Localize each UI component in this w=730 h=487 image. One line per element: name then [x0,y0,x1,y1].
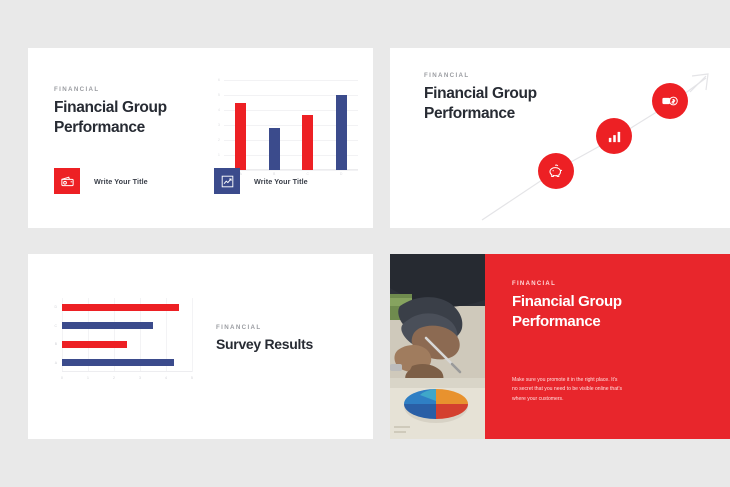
eyebrow: FINANCIAL [54,86,204,93]
page-title: Financial Group Performance [512,292,642,331]
title-line-2: Performance [512,312,642,332]
y-tick-label: 5 [218,93,220,97]
x-tick-label: 5 [191,376,193,380]
slide1-text-block: FINANCIAL Financial Group Performance [54,86,204,137]
slide-photo-red-panel[interactable]: FINANCIAL Financial Group Performance Ma… [390,254,730,439]
bar [269,128,280,170]
wallet-icon [54,168,80,194]
x-tick-label: 4 [165,376,167,380]
line-chart-icon [214,168,240,194]
bar [62,304,179,311]
page-title: Survey Results [216,336,356,352]
y-tick-label: 1 [218,153,220,157]
eyebrow: FINANCIAL [512,281,642,287]
bar-row [62,317,192,336]
money-coins-icon[interactable] [652,83,688,119]
page-title: Financial Group Performance [424,84,584,123]
gridline [192,298,193,372]
chart-baseline [62,371,192,372]
item-line-chart[interactable]: Write Your Title [214,168,308,194]
bar-row [62,335,192,354]
x-tick-label: 2 [113,376,115,380]
x-tick-label: 3 [139,376,141,380]
bar-chart-icon[interactable] [596,118,632,154]
slide1-items: Write Your Title Write Your Title [54,168,357,194]
slide-deck: FINANCIAL Financial Group Performance 65… [0,0,730,487]
chart-bars [224,80,358,170]
y-tick-label: 3 [218,123,220,127]
chart-x-axis: 012345 [62,376,192,384]
chart-y-axis: 6543210 [210,80,223,170]
title-line-1: Financial Group [424,84,584,104]
x-tick-label: 0 [61,376,63,380]
x-tick-label: 1 [87,376,89,380]
bar-row [62,298,192,317]
slide3-text-block: FINANCIAL Survey Results [216,324,356,352]
body-text: Make sure you promote it in the right pl… [512,376,624,404]
page-title: Financial Group Performance [54,98,204,137]
slide-bar-chart[interactable]: FINANCIAL Financial Group Performance 65… [28,48,373,228]
title-line-1: Financial Group [54,98,204,118]
eyebrow: FINANCIAL [424,72,584,79]
red-content-panel: FINANCIAL Financial Group Performance Ma… [485,254,730,439]
piggy-bank-icon[interactable] [538,153,574,189]
y-tick-label: 4 [218,108,220,112]
title-line-2: Performance [424,104,584,124]
bar [235,103,246,171]
bar [62,322,153,329]
item-wallet[interactable]: Write Your Title [54,168,214,194]
bar [62,341,127,348]
horizontal-bar-chart: DCBA 012345 [46,296,198,388]
chart-y-axis: DCBA [46,298,61,372]
y-tick-label: A [55,361,57,365]
slide-survey-results[interactable]: DCBA 012345 FINANCIAL Survey Results [28,254,373,439]
y-tick-label: B [55,342,57,346]
eyebrow: FINANCIAL [216,324,356,331]
slide-growth-arrow[interactable]: FINANCIAL Financial Group Performance [390,48,730,228]
hands-pen-document-photo [390,254,485,439]
item-label: Write Your Title [254,177,308,186]
chart-plot [62,298,192,372]
slide4-text-block: FINANCIAL Financial Group Performance [512,281,642,331]
y-tick-label: 2 [218,138,220,142]
item-label: Write Your Title [94,177,148,186]
y-tick-label: C [55,324,57,328]
bar [302,115,313,171]
y-tick-label: 6 [218,78,220,82]
bar [336,95,347,170]
title-line-1: Financial Group [512,292,642,312]
y-tick-label: D [55,305,57,309]
bar-row [62,354,192,373]
bar [62,359,174,366]
title-line-2: Performance [54,118,204,138]
slide2-text-block: FINANCIAL Financial Group Performance [424,72,584,123]
